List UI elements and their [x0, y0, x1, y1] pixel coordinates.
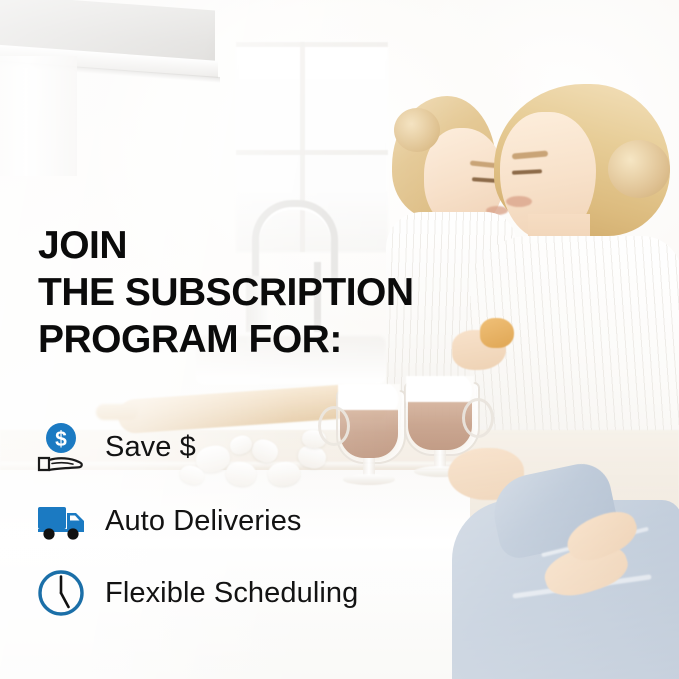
- ad-content: JOIN THE SUBSCRIPTION PROGRAM FOR: $ Sav…: [0, 0, 679, 679]
- benefit-label-flexible-scheduling: Flexible Scheduling: [105, 577, 358, 610]
- headline-line-2: THE SUBSCRIPTION: [38, 269, 458, 316]
- benefit-label-save: Save $: [105, 431, 196, 464]
- benefit-item-auto-deliveries: Auto Deliveries: [34, 498, 358, 544]
- ad-creative: JOIN THE SUBSCRIPTION PROGRAM FOR: $ Sav…: [0, 0, 679, 679]
- delivery-truck-icon: [34, 493, 90, 549]
- benefit-item-flexible-scheduling: Flexible Scheduling: [34, 566, 358, 620]
- headline-line-1: JOIN: [38, 222, 458, 269]
- clock-icon: [34, 565, 90, 621]
- svg-text:$: $: [55, 428, 67, 451]
- benefit-item-save: $ Save $: [34, 418, 358, 476]
- coin-in-hand-icon: $: [34, 419, 90, 475]
- headline-line-3: PROGRAM FOR:: [38, 316, 458, 363]
- benefit-label-auto-deliveries: Auto Deliveries: [105, 505, 302, 538]
- headline: JOIN THE SUBSCRIPTION PROGRAM FOR:: [38, 222, 458, 363]
- benefits-list: $ Save $: [34, 418, 358, 620]
